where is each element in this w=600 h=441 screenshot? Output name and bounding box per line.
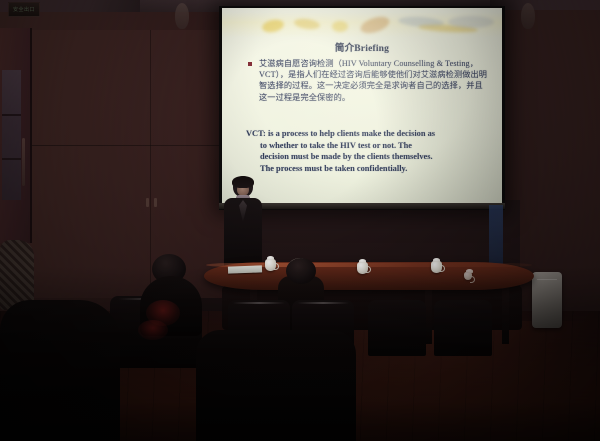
cabinet-handle-left[interactable] [146,198,149,207]
door-glass [2,70,21,200]
english-line-1: VCT: is a process to help clients make t… [246,129,435,138]
presenter-hair [232,176,254,188]
audience-body-foreground-left [0,300,120,441]
banner-blob-4 [359,14,392,37]
chair-1-highlight [233,302,285,304]
audience-body-foreground-center [196,330,356,441]
air-purifier [532,272,562,328]
cabinet-handle-right[interactable] [154,198,157,207]
projection-screen: 简介Briefing 艾滋病自愿咨询检测（HIV Voluntary Couns… [222,8,502,204]
air-purifier-vent [537,279,557,280]
english-line-3: decision must be made by the clients the… [246,151,494,163]
exit-sign-label: 安全出口 [13,6,35,13]
wall-cabinet [28,30,224,298]
audience-red-accent-2 [138,320,168,340]
bullet-square-icon [248,62,252,66]
english-line-2: to whether to take the HIV test or not. … [246,140,494,152]
teacup-2 [357,262,368,274]
chair-2-highlight [297,302,349,304]
slide-title: 简介Briefing [222,40,502,54]
banner-blob-2 [293,17,320,31]
door-mullion-2 [2,158,21,160]
audience-head-2 [286,258,316,284]
english-line-4: The process must be taken confidentially… [246,163,494,175]
exit-sign: 安全出口 [8,2,40,17]
door-handle[interactable] [22,138,25,186]
teacup-1 [265,259,276,271]
door[interactable] [0,28,32,243]
chair-4[interactable] [434,300,492,356]
cabinet-seam-horizontal [28,145,224,146]
chair-3[interactable] [368,300,426,356]
slide-bullet-item: 艾滋病自愿咨询检测（HIV Voluntary Counselling & Te… [248,58,488,103]
teacup-4 [464,272,472,280]
door-mullion-1 [2,114,21,116]
slide-bullet-text-chinese: 艾滋病自愿咨询检测（HIV Voluntary Counselling & Te… [259,58,488,103]
table-leg-right [502,288,509,344]
banner-blob-3 [332,21,348,32]
banner-blob-1 [261,18,285,34]
photo-scene: 安全出口 简介Briefing 艾滋病自愿咨询检测（HIV Voluntary … [0,0,600,441]
papers-on-table [228,265,262,273]
slide-decorative-banner [222,12,502,38]
cabinet-seam-vertical [150,30,151,298]
teacup-3 [431,261,442,273]
wall-speaker-left [175,3,189,29]
table-leg-center [425,288,432,344]
blue-wall-panel [489,205,503,267]
banner-blob-7 [448,16,494,28]
slide-english-paragraph: VCT: is a process to help clients make t… [246,128,494,174]
wall-speaker-right [521,3,535,29]
presenter [222,176,264,268]
